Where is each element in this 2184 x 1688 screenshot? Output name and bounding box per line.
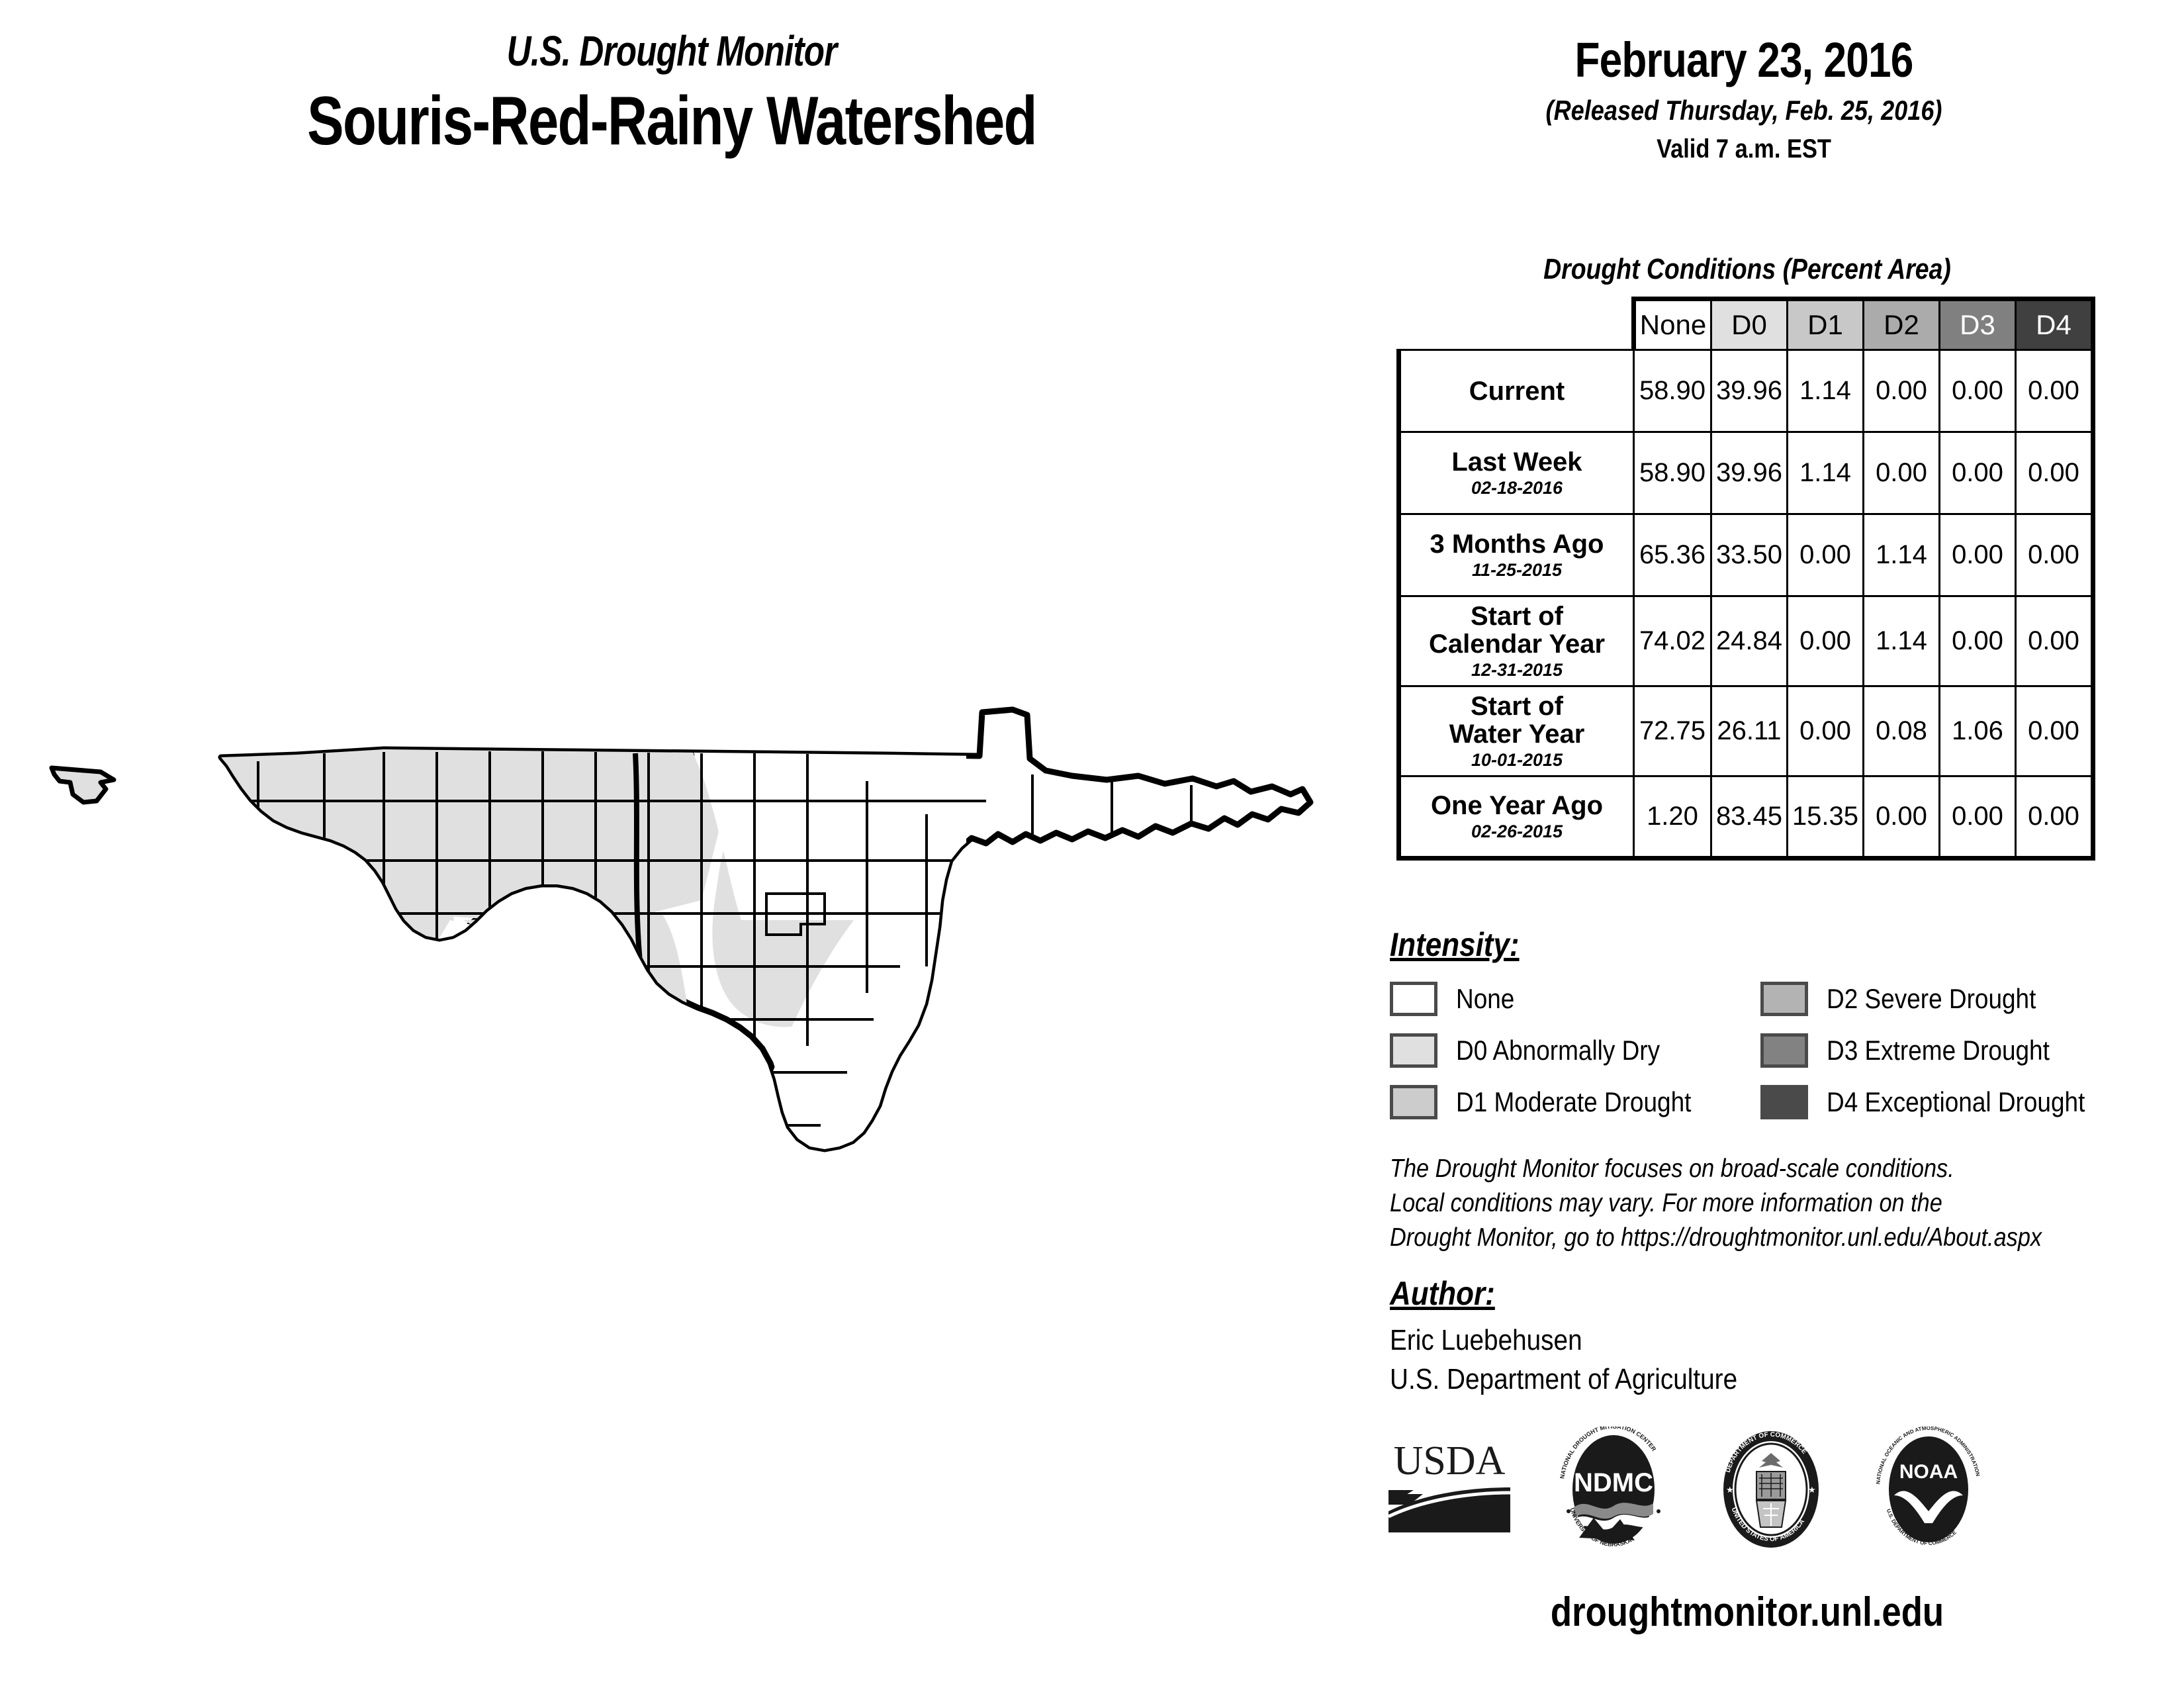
footer-url: droughtmonitor.unl.edu [1416,1589,2079,1636]
legend-swatch [1390,1033,1437,1068]
map-d0-shading [205,741,1019,1205]
cell-d2: 1.14 [1864,514,1940,596]
row-date: 02-26-2015 [1401,822,1633,841]
table-row: Current58.9039.961.140.000.000.00 [1399,350,2093,432]
author-heading: Author: [1390,1274,1495,1313]
cell-d4: 0.00 [2016,432,2093,514]
region-title: Souris-Red-Rainy Watershed [134,82,1209,161]
legend-label: D4 Exceptional Drought [1827,1086,2085,1118]
valid-date: February 23, 2016 [1419,32,2070,88]
author-block: Eric Luebehusen U.S. Department of Agric… [1390,1321,1737,1399]
usda-logo: USDA [1383,1433,1516,1546]
legend-label: D3 Extreme Drought [1827,1035,2050,1066]
header-spacer [1399,299,1634,350]
legend-item: D1 Moderate Drought [1390,1085,1760,1119]
row-date: 10-01-2015 [1401,751,1633,769]
column-header-d0: D0 [1711,299,1788,350]
table-row: One Year Ago02-26-20151.2083.4515.350.00… [1399,776,2093,859]
cell-d2: 0.00 [1864,350,1940,432]
column-header-d1: D1 [1788,299,1864,350]
cell-d1: 1.14 [1788,432,1864,514]
doc-seal: DEPARTMENT OF COMMERCE UNITED STATES OF … [1711,1427,1831,1552]
row-label: Last Week [1451,447,1582,477]
title-block: U.S. Drought Monitor Souris-Red-Rainy Wa… [0,26,1343,161]
column-header-d4: D4 [2016,299,2093,350]
cell-d4: 0.00 [2016,514,2093,596]
cell-d0: 24.84 [1711,596,1788,686]
row-date: 11-25-2015 [1401,561,1633,579]
cell-d4: 0.00 [2016,686,2093,776]
cell-d2: 1.14 [1864,596,1940,686]
drought-conditions-table: None D0 D1 D2 D3 D4 Current58.9039.961.1… [1396,297,2095,861]
date-block: February 23, 2016 (Released Thursday, Fe… [1357,32,2131,164]
author-name: Eric Luebehusen [1390,1321,1737,1360]
cell-d1: 0.00 [1788,596,1864,686]
cell-d2: 0.08 [1864,686,1940,776]
svg-text:NDMC: NDMC [1574,1468,1653,1497]
cell-none: 58.90 [1634,432,1711,514]
legend-swatch [1760,1085,1808,1119]
intensity-heading: Intensity: [1390,925,1520,964]
svg-text:NOAA: NOAA [1899,1461,1958,1483]
cell-d4: 0.00 [2016,776,2093,859]
row-label-cell: Start ofCalendar Year12-31-2015 [1399,596,1634,686]
legend-item: D0 Abnormally Dry [1390,1033,1760,1068]
cell-d0: 83.45 [1711,776,1788,859]
cell-d0: 26.11 [1711,686,1788,776]
map-outlier-polygon [52,768,114,802]
row-label: Current [1469,377,1565,406]
row-label-cell: One Year Ago02-26-2015 [1399,776,1634,859]
noaa-logo: NOAA NATIONAL OCEANIC AND ATMOSPHERIC AD… [1869,1427,1988,1552]
table-header-row: None D0 D1 D2 D3 D4 [1399,299,2093,350]
author-affiliation: U.S. Department of Agriculture [1390,1360,1737,1399]
cell-d1: 1.14 [1788,350,1864,432]
cell-d4: 0.00 [2016,596,2093,686]
table-row: 3 Months Ago11-25-201565.3633.500.001.14… [1399,514,2093,596]
intensity-legend: NoneD2 Severe DroughtD0 Abnormally DryD3… [1390,973,2158,1128]
legend-item: None [1390,982,1760,1016]
column-header-d2: D2 [1864,299,1940,350]
table-row: Start ofCalendar Year12-31-201574.0224.8… [1399,596,2093,686]
disclaimer-text: The Drought Monitor focuses on broad-sca… [1390,1152,2042,1255]
row-label: Start ofWater Year [1449,692,1585,749]
svg-text:USDA: USDA [1394,1438,1506,1483]
agency-logos: USDA NDMC NATIONAL DROUGHT MITIGATION CE… [1383,1427,2151,1552]
legend-label: None [1456,983,1514,1015]
table-row: Start ofWater Year10-01-201572.7526.110.… [1399,686,2093,776]
row-label: 3 Months Ago [1430,530,1604,559]
row-label-cell: Current [1399,350,1634,432]
program-title: U.S. Drought Monitor [134,26,1209,75]
valid-time: Valid 7 a.m. EST [1411,134,2077,164]
svg-text:★: ★ [1726,1485,1734,1495]
cell-d3: 0.00 [1940,432,2016,514]
legend-row: D0 Abnormally DryD3 Extreme Drought [1390,1025,2158,1076]
table-body: Current58.9039.961.140.000.000.00Last We… [1399,350,2093,859]
legend-swatch [1760,1033,1808,1068]
cell-d1: 0.00 [1788,686,1864,776]
legend-swatch [1760,982,1808,1016]
legend-row: D1 Moderate DroughtD4 Exceptional Drough… [1390,1076,2158,1128]
column-header-d3: D3 [1940,299,2016,350]
disclaimer-line-3: Drought Monitor, go to https://droughtmo… [1390,1221,2042,1255]
legend-label: D1 Moderate Drought [1456,1086,1691,1118]
ndmc-logo: NDMC NATIONAL DROUGHT MITIGATION CENTER … [1554,1427,1673,1552]
row-label: Start ofCalendar Year [1429,602,1605,659]
legend-row: NoneD2 Severe Drought [1390,973,2158,1025]
cell-none: 72.75 [1634,686,1711,776]
legend-label: D2 Severe Drought [1827,983,2036,1015]
table-header: None D0 D1 D2 D3 D4 [1399,299,2093,350]
cell-none: 58.90 [1634,350,1711,432]
cell-d3: 0.00 [1940,596,2016,686]
svg-text:★: ★ [1808,1485,1816,1495]
cell-d0: 33.50 [1711,514,1788,596]
row-date: 02-18-2016 [1401,479,1633,497]
legend-item: D4 Exceptional Drought [1760,1085,2120,1119]
cell-d3: 0.00 [1940,776,2016,859]
cell-d2: 0.00 [1864,776,1940,859]
legend-item: D3 Extreme Drought [1760,1033,2080,1068]
cell-none: 74.02 [1634,596,1711,686]
legend-label: D0 Abnormally Dry [1456,1035,1660,1066]
released-date: (Released Thursday, Feb. 25, 2016) [1411,95,2077,126]
table-row: Last Week02-18-201658.9039.961.140.000.0… [1399,432,2093,514]
cell-d2: 0.00 [1864,432,1940,514]
legend-item: D2 Severe Drought [1760,982,2065,1016]
row-label-cell: 3 Months Ago11-25-2015 [1399,514,1634,596]
cell-d1: 0.00 [1788,514,1864,596]
map-container [40,702,1337,1205]
souris-red-rainy-watershed-map [40,702,1337,1205]
legend-swatch [1390,982,1437,1016]
table-caption: Drought Conditions (Percent Area) [1416,253,2079,286]
disclaimer-line-1: The Drought Monitor focuses on broad-sca… [1390,1152,2042,1186]
cell-d3: 0.00 [1940,350,2016,432]
cell-none: 65.36 [1634,514,1711,596]
row-label-cell: Last Week02-18-2016 [1399,432,1634,514]
cell-d3: 1.06 [1940,686,2016,776]
legend-swatch [1390,1085,1437,1119]
column-header-none: None [1634,299,1711,350]
disclaimer-line-2: Local conditions may vary. For more info… [1390,1186,2042,1221]
cell-d4: 0.00 [2016,350,2093,432]
cell-d0: 39.96 [1711,350,1788,432]
row-label: One Year Ago [1431,791,1603,820]
row-label-cell: Start ofWater Year10-01-2015 [1399,686,1634,776]
cell-none: 1.20 [1634,776,1711,859]
cell-d1: 15.35 [1788,776,1864,859]
cell-d3: 0.00 [1940,514,2016,596]
cell-d0: 39.96 [1711,432,1788,514]
row-date: 12-31-2015 [1401,661,1633,679]
